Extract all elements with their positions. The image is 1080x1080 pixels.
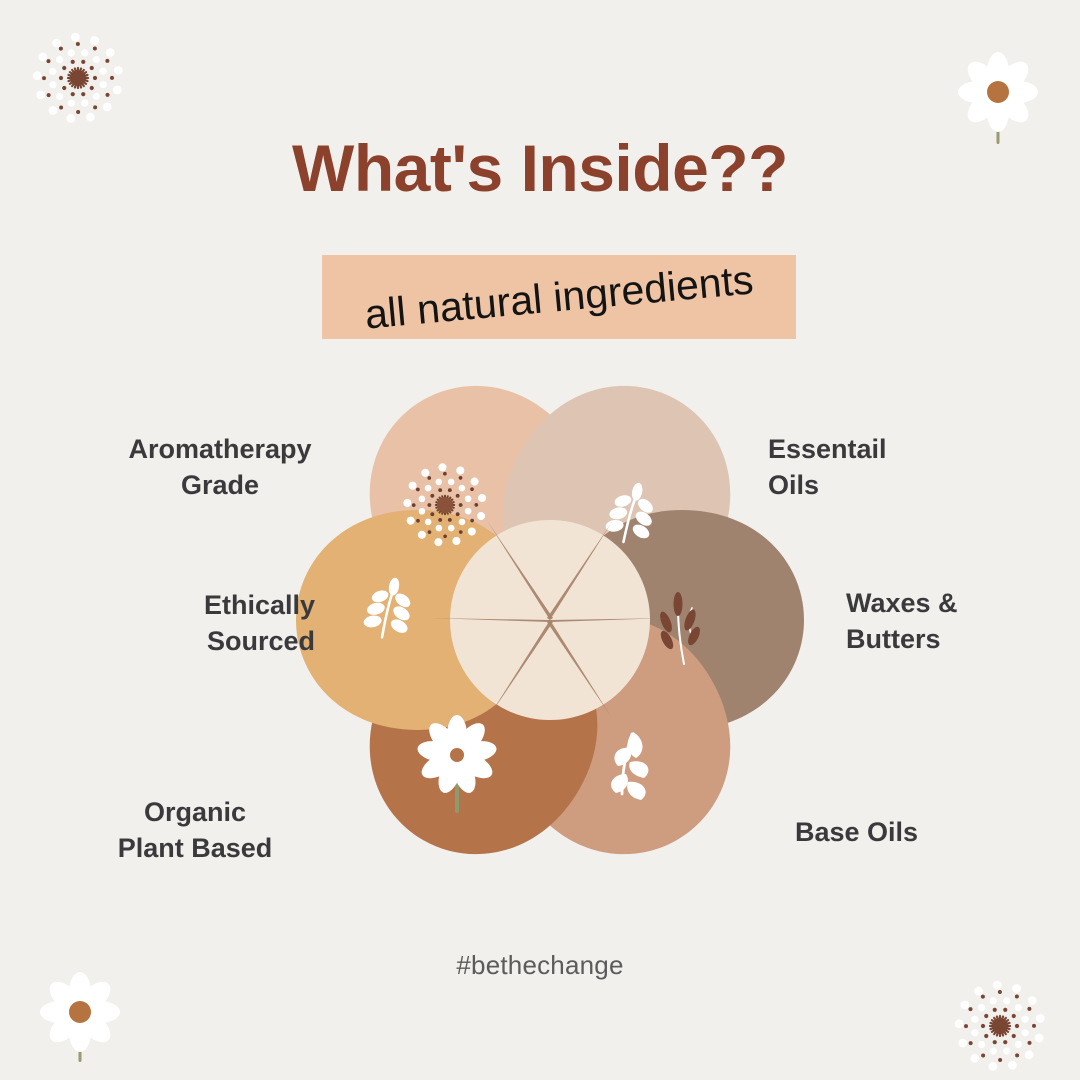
label-line: Sourced [20,624,315,660]
label-line: Essentail [768,432,1068,468]
petal-label-aromatherapy-grade: Aromatherapy Grade [60,432,380,503]
label-line: Oils [768,468,1068,504]
petal-label-waxes-and-butters: Waxes & Butters [846,586,1080,657]
petal-label-base-oils: Base Oils [795,815,1080,851]
dandelion-burst-icon [952,978,1048,1074]
label-line: Base Oils [795,815,1080,851]
label-line: Waxes & [846,586,1080,622]
petal-label-essential-oils: Essentail Oils [768,432,1068,503]
daisy-icon [32,968,128,1072]
label-line: Grade [60,468,380,504]
subtitle-text: all natural ingredients [319,234,799,361]
label-line: Aromatherapy [60,432,380,468]
label-line: Plant Based [40,831,350,867]
footer-hashtag: #bethechange [0,950,1080,981]
petal-label-organic-plant-based: Organic Plant Based [40,795,350,866]
label-line: Butters [846,622,1080,658]
dandelion-burst-icon [30,30,126,126]
petal-label-ethically-sourced: Ethically Sourced [20,588,315,659]
label-line: Ethically [20,588,315,624]
page-title: What's Inside?? [0,132,1080,205]
poster-canvas: What's Inside?? all natural ingredients [0,0,1080,1080]
label-line: Organic [40,795,350,831]
